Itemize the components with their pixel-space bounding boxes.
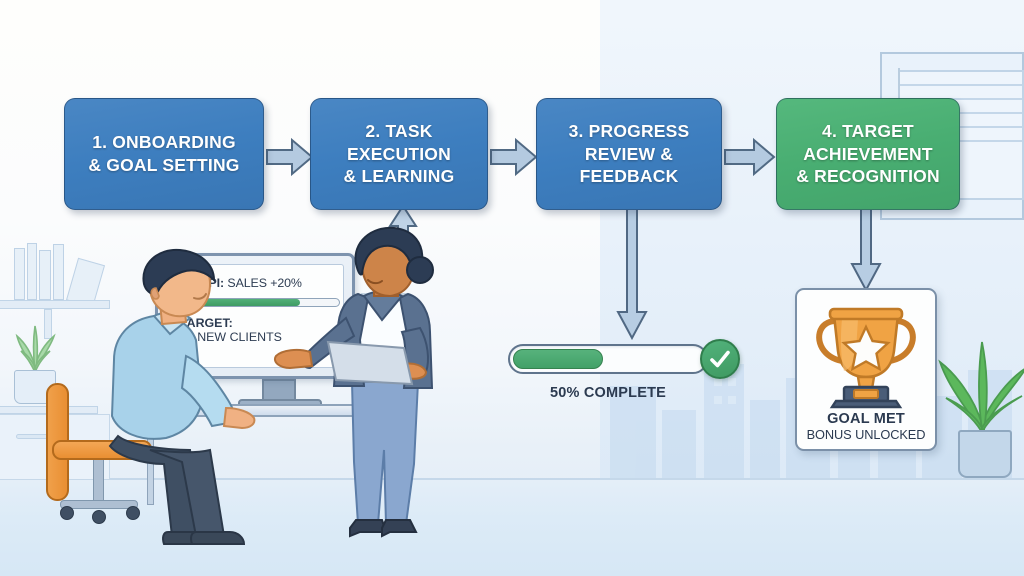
clipboard	[328, 342, 412, 384]
check-circle-icon	[700, 339, 740, 379]
blind-slat	[900, 84, 1022, 86]
book	[27, 243, 37, 300]
book	[14, 248, 25, 300]
flow-step-1-onboarding-goal-setting[interactable]: 1. ONBOARDING& GOAL SETTING	[64, 98, 264, 210]
flow-step-4-target-achievement-recognition[interactable]: 4. TARGETACHIEVEMENT& RECOGNITION	[776, 98, 960, 210]
progress-fill	[513, 349, 603, 369]
potted-plant-icon	[8, 318, 64, 374]
hair-bun	[407, 257, 433, 283]
shoe	[191, 532, 244, 544]
chair-caster	[60, 506, 74, 520]
arrow-step3-to-step4-icon	[724, 138, 776, 176]
bonus-unlocked-subtitle: BONUS UNLOCKED	[807, 427, 926, 442]
potted-plant-icon	[930, 336, 1024, 436]
book	[39, 250, 51, 300]
progress-label: 50% COMPLETE	[508, 385, 708, 401]
seated-employee-figure	[78, 250, 258, 550]
hand-pointing	[275, 350, 312, 368]
flow-step-4-label: 4. TARGETACHIEVEMENT& RECOGNITION	[796, 120, 940, 188]
trophy-icon	[812, 299, 920, 409]
plant-pot-right	[958, 430, 1012, 478]
check-icon	[708, 347, 732, 371]
arrow-step1-to-step2-icon	[266, 138, 314, 176]
flow-step-3-label: 3. PROGRESSREVIEW &FEEDBACK	[569, 120, 690, 188]
heel-shoe	[350, 520, 386, 536]
jeans	[352, 382, 418, 524]
arrow-step4-to-trophy-icon	[850, 208, 882, 292]
infographic-canvas: 1. ONBOARDING& GOAL SETTING 2. TASKEXECU…	[0, 0, 1024, 576]
hand	[224, 408, 254, 428]
arrow-step3-to-progress-icon	[616, 208, 648, 340]
goal-met-title: GOAL MET	[827, 411, 905, 427]
completion-progress-bar[interactable]	[508, 344, 708, 374]
goal-met-card[interactable]: GOAL MET BONUS UNLOCKED	[795, 288, 937, 451]
flow-step-3-progress-review-feedback[interactable]: 3. PROGRESSREVIEW &FEEDBACK	[536, 98, 722, 210]
book	[53, 244, 64, 300]
flow-step-2-label: 2. TASKEXECUTION& LEARNING	[344, 120, 455, 188]
heel-shoe	[382, 520, 416, 536]
flow-step-2-task-execution-learning[interactable]: 2. TASKEXECUTION& LEARNING	[310, 98, 488, 210]
flow-step-1-label: 1. ONBOARDING& GOAL SETTING	[88, 131, 239, 177]
standing-manager-figure	[320, 236, 450, 536]
arrow-step2-to-step3-icon	[490, 138, 538, 176]
